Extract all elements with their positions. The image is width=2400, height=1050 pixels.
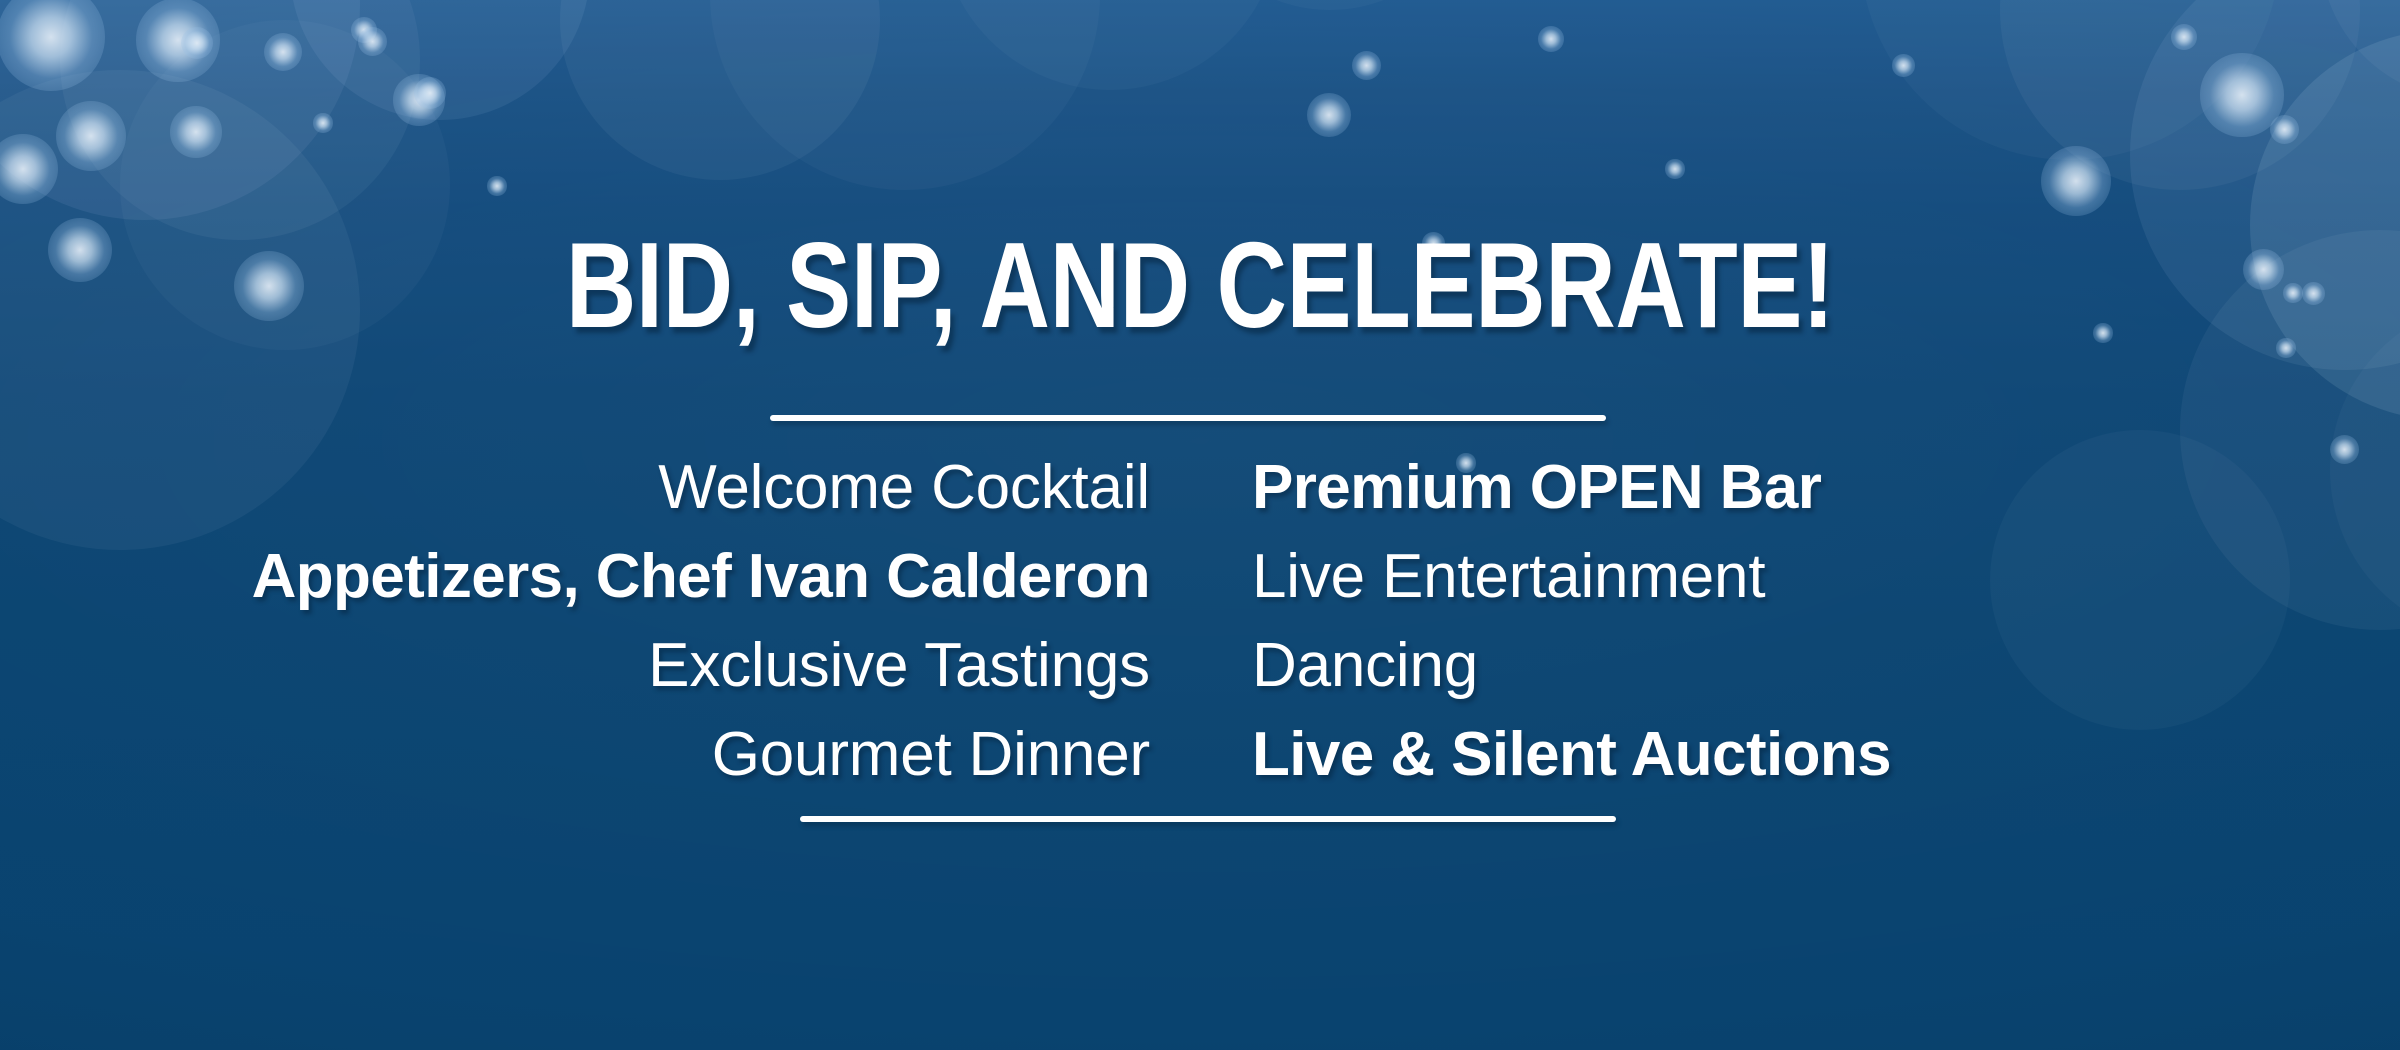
- feature-right-3: Dancing: [1150, 630, 2400, 702]
- feature-right-2: Live Entertainment: [1150, 541, 2400, 613]
- feature-left-3: Exclusive Tastings: [0, 630, 1150, 702]
- divider-top: [770, 415, 1606, 421]
- list-item: Appetizers, Chef Ivan Calderon Live Ente…: [0, 541, 2400, 630]
- list-item: Exclusive Tastings Dancing: [0, 630, 2400, 719]
- event-banner: BID, SIP, AND CELEBRATE! Welcome Cocktai…: [0, 0, 2400, 1050]
- divider-bottom: [800, 816, 1616, 822]
- features-list: Welcome Cocktail Premium OPEN Bar Appeti…: [0, 452, 2400, 808]
- page-title: BID, SIP, AND CELEBRATE!: [240, 224, 2160, 346]
- list-item: Gourmet Dinner Live & Silent Auctions: [0, 719, 2400, 808]
- feature-left-4: Gourmet Dinner: [0, 719, 1150, 791]
- feature-right-1: Premium OPEN Bar: [1150, 452, 2400, 524]
- feature-left-2: Appetizers, Chef Ivan Calderon: [0, 541, 1150, 613]
- feature-left-1: Welcome Cocktail: [0, 452, 1150, 524]
- feature-right-4: Live & Silent Auctions: [1150, 719, 2400, 791]
- banner-content: BID, SIP, AND CELEBRATE! Welcome Cocktai…: [0, 0, 2400, 1050]
- list-item: Welcome Cocktail Premium OPEN Bar: [0, 452, 2400, 541]
